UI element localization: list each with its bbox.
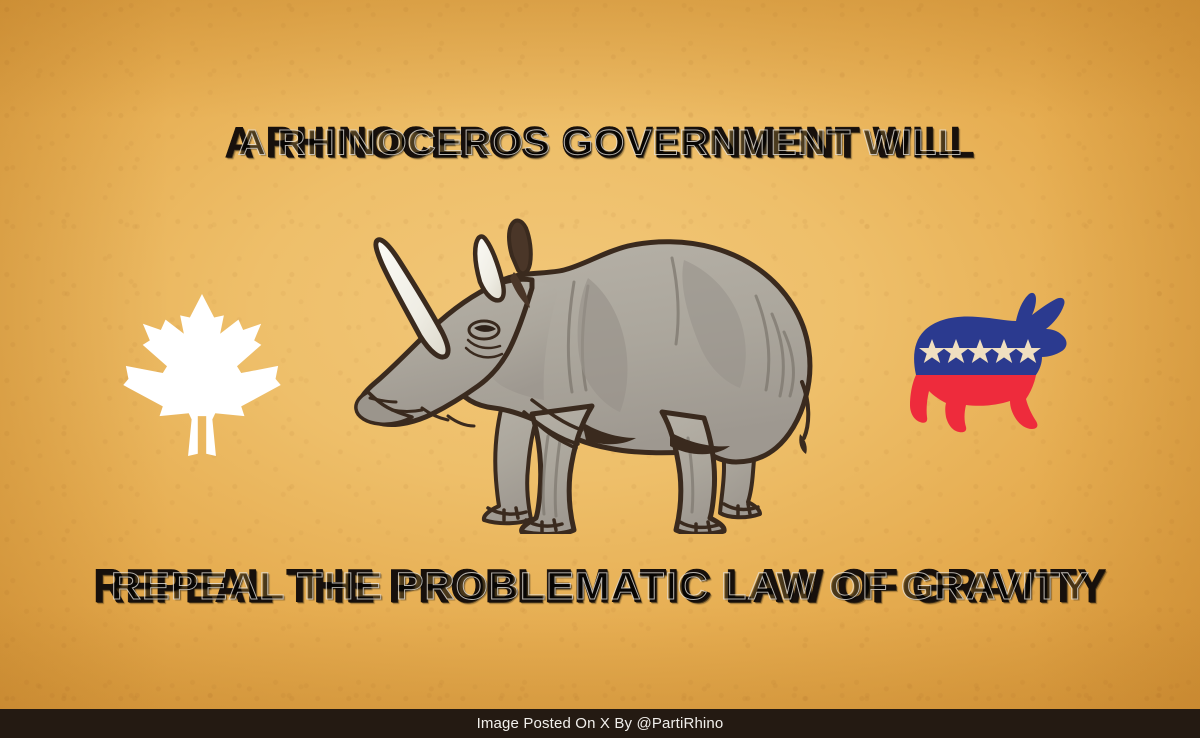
headline-top-text: A RHINOCEROS GOVERNMENT WILL: [225, 118, 976, 168]
maple-leaf-icon: [121, 289, 283, 461]
meme-image-canvas: A RHINOCEROS GOVERNMENT WILL: [0, 0, 1200, 738]
headline-bottom-text: REPEAL THE PROBLEMATIC LAW OF GRAVITY: [93, 558, 1107, 613]
caption-bar: Image Posted On X By @PartiRhino: [0, 709, 1200, 738]
logo-rhino-red-lower: [910, 375, 1037, 432]
rhinoceros-illustration: [336, 186, 830, 534]
caption-text: Image Posted On X By @PartiRhino: [477, 716, 724, 731]
gop-rhino-party-logo: [902, 281, 1074, 449]
headline-top: A RHINOCEROS GOVERNMENT WILL: [0, 118, 1200, 168]
headline-bottom: REPEAL THE PROBLEMATIC LAW OF GRAVITY: [0, 558, 1200, 613]
logo-rhino-blue-upper: [914, 293, 1066, 375]
